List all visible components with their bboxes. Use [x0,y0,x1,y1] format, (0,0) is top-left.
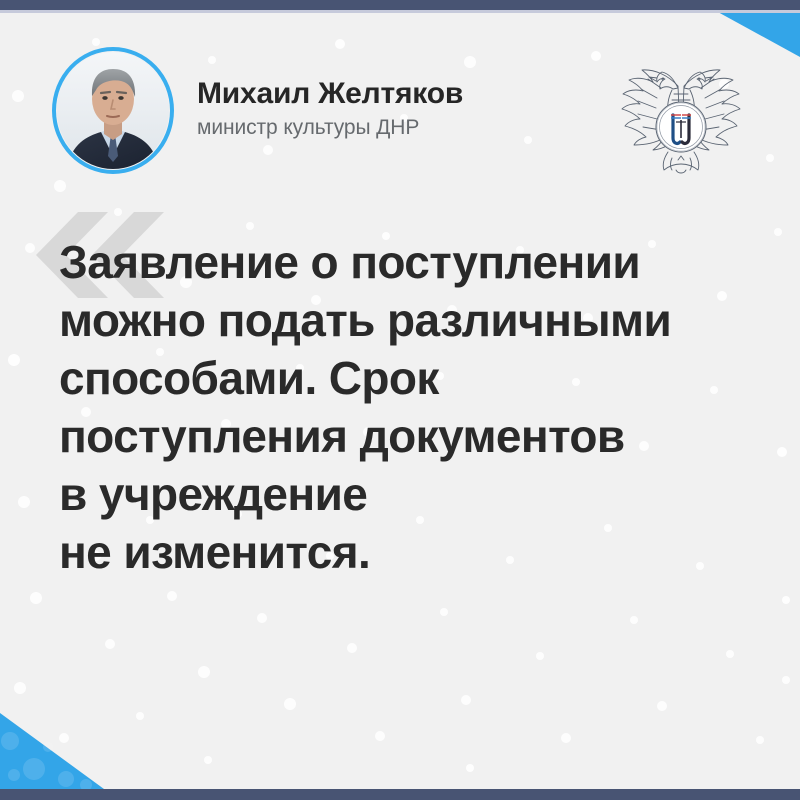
quote-line: способами. Срок [59,349,779,407]
quote-card: Михаил Желтяков министр культуры ДНР [0,0,800,800]
speaker-info: Михаил Желтяков министр культуры ДНР [197,77,463,145]
avatar-ring [52,47,174,174]
bottom-bar [0,789,800,800]
quote-text: Заявление о поступлении можно подать раз… [59,233,779,581]
quote-line: не изменится. [59,523,779,581]
ministry-emblem-icon [612,48,750,180]
bottom-left-triangle [0,713,104,789]
avatar [52,47,174,174]
speaker-header: Михаил Желтяков министр культуры ДНР [52,47,463,174]
top-bar [0,0,800,10]
quote-line: поступления документов [59,407,779,465]
person-role: министр культуры ДНР [197,116,463,140]
quote-line: можно подать различными [59,291,779,349]
quote-line: в учреждение [59,465,779,523]
top-bar-underline [0,10,800,13]
person-name: Михаил Желтяков [197,77,463,112]
quote-line: Заявление о поступлении [59,233,779,291]
